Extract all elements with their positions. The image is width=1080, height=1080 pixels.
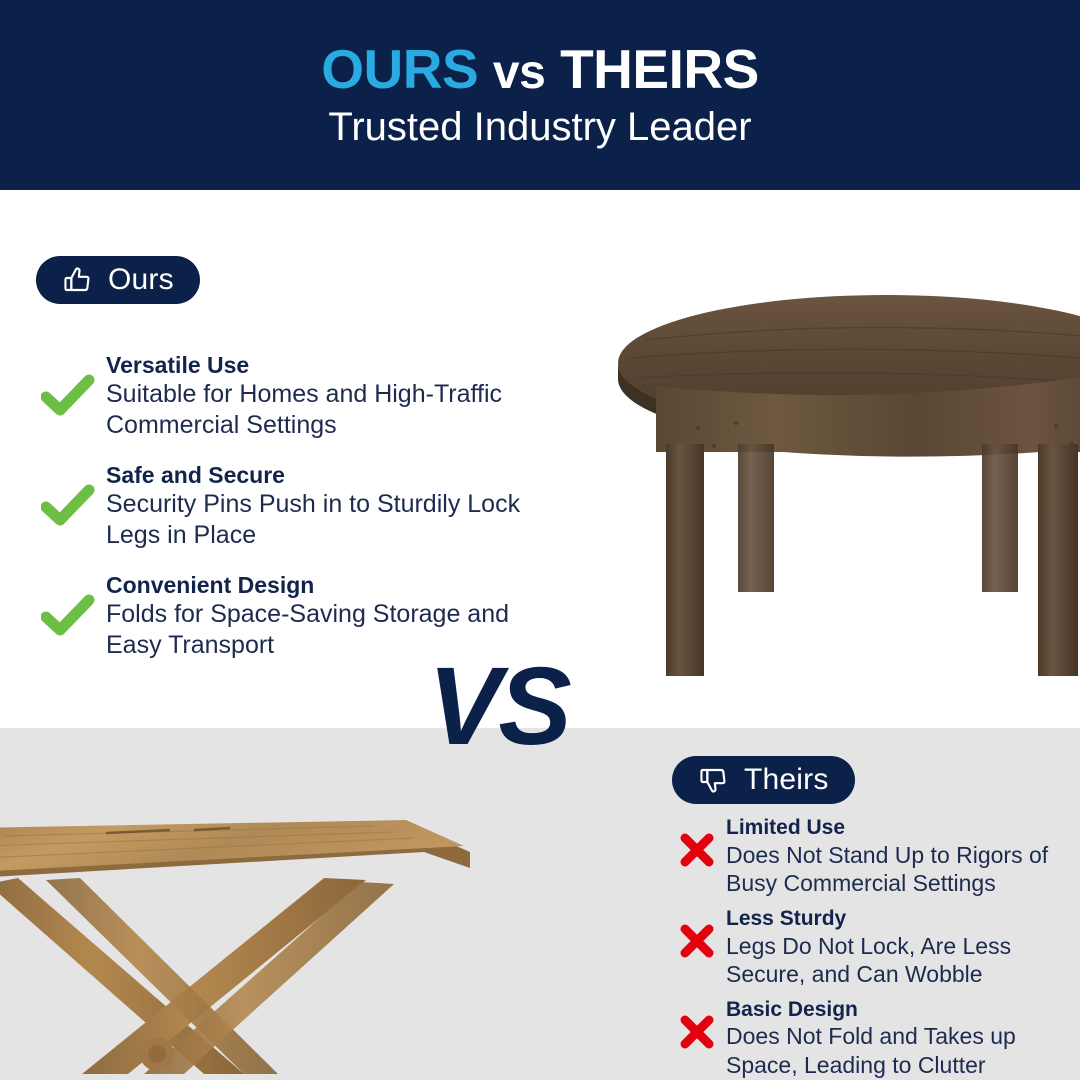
cross-icon [668, 816, 726, 870]
badge-ours[interactable]: Ours [36, 256, 200, 304]
check-icon [30, 352, 106, 418]
list-item-title: Limited Use [726, 816, 1080, 841]
title-theirs: THEIRS [560, 38, 759, 100]
feature-list-ours: Versatile Use Suitable for Homes and Hig… [30, 352, 530, 682]
check-icon [30, 462, 106, 528]
list-item-title: Convenient Design [106, 572, 530, 599]
cross-icon [668, 907, 726, 961]
product-image-ours [586, 258, 1080, 678]
list-item-description: Does Not Fold and Takes up Space, Leadin… [726, 1022, 1080, 1078]
list-item-title: Less Sturdy [726, 907, 1080, 932]
badge-ours-label: Ours [108, 265, 174, 295]
thumbs-up-icon [62, 264, 94, 296]
list-item-title: Safe and Secure [106, 462, 530, 489]
page-title: OURS vs THEIRS [321, 41, 759, 99]
title-vs: vs [493, 46, 545, 99]
list-item-description: Security Pins Push in to Sturdily Lock L… [106, 489, 530, 550]
list-item: Limited Use Does Not Stand Up to Rigors … [668, 816, 1080, 897]
list-item-title: Versatile Use [106, 352, 530, 379]
header-banner: OURS vs THEIRS Trusted Industry Leader [0, 0, 1080, 190]
badge-theirs-label: Theirs [744, 765, 829, 795]
list-item: Basic Design Does Not Fold and Takes up … [668, 998, 1080, 1079]
list-item-description: Does Not Stand Up to Rigors of Busy Comm… [726, 841, 1080, 897]
comparison-infographic: OURS vs THEIRS Trusted Industry Leader [0, 0, 1080, 1080]
list-item-title: Basic Design [726, 998, 1080, 1023]
list-item-description: Suitable for Homes and High-Traffic Comm… [106, 379, 530, 440]
list-item: Safe and Secure Security Pins Push in to… [30, 462, 530, 550]
vs-divider-label: VS [428, 652, 569, 762]
product-image-theirs [0, 806, 514, 1080]
feature-list-theirs: Limited Use Does Not Stand Up to Rigors … [668, 816, 1080, 1080]
check-icon [30, 572, 106, 638]
list-item-description: Legs Do Not Lock, Are Less Secure, and C… [726, 932, 1080, 988]
list-item: Versatile Use Suitable for Homes and Hig… [30, 352, 530, 440]
list-item: Less Sturdy Legs Do Not Lock, Are Less S… [668, 907, 1080, 988]
badge-theirs[interactable]: Theirs [672, 756, 855, 804]
cross-icon [668, 998, 726, 1052]
title-ours: OURS [321, 38, 478, 100]
thumbs-down-icon [698, 764, 730, 796]
page-subtitle: Trusted Industry Leader [328, 105, 751, 149]
